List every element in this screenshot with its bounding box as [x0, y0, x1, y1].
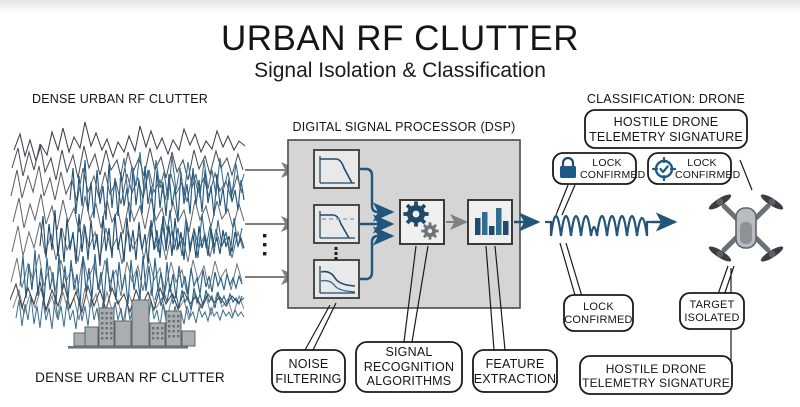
callout-line: RECOGNITION [356, 360, 462, 375]
badge-line: LOCK [580, 158, 634, 170]
callout-text-hostile-drone-bottom: HOSTILE DRONE TELEMETRY SIGNATURE [580, 362, 732, 390]
callout-line: TARGET [680, 299, 744, 312]
label-classification: CLASSIFICATION: DRONE [578, 92, 754, 106]
callout-line: LOCK [564, 301, 633, 314]
city-skyline-icon [68, 300, 195, 349]
badge-line: CONFIRMED [580, 170, 634, 182]
callout-line: HOSTILE DRONE [580, 362, 732, 376]
callout-line: TELEMETRY SIGNATURE [585, 130, 747, 145]
callout-text-target-isolated: TARGET ISOLATED [680, 299, 744, 325]
rf-clutter-traces-icon [10, 122, 245, 329]
callout-line: SIGNAL [356, 345, 462, 360]
callout-line: ALGORITHMS [356, 374, 462, 389]
callout-text-lock-confirmed-bottom: LOCK CONFIRMED [564, 301, 633, 327]
clutter-ellipsis-icon [263, 234, 266, 255]
label-clutter-top: DENSE URBAN RF CLUTTER [10, 92, 230, 106]
badge-line: LOCK [675, 158, 729, 170]
callout-line: NOISE [272, 357, 345, 372]
label-dsp-title: DIGITAL SIGNAL PROCESSOR (DSP) [283, 120, 525, 134]
quadcopter-drone-icon [707, 192, 785, 264]
filter-3-block[interactable] [314, 260, 359, 298]
callout-line: TELEMETRY SIGNATURE [580, 376, 732, 390]
dsp-filter-blocks [314, 150, 359, 298]
filter-1-block[interactable] [314, 150, 359, 188]
callout-text-signal-recognition: SIGNAL RECOGNITION ALGORITHMS [356, 345, 462, 389]
badge-line: CONFIRMED [675, 170, 729, 182]
clean-sine-wave-icon [545, 216, 675, 236]
callout-line: ISOLATED [680, 312, 744, 325]
badge-text-lock: LOCK CONFIRMED [580, 158, 634, 181]
label-clutter-bottom: DENSE URBAN RF CLUTTER [10, 370, 250, 385]
callout-line: EXTRACTION [473, 372, 557, 387]
callout-line: FEATURE [473, 357, 557, 372]
filter-ellipsis-icon [335, 247, 338, 260]
callout-text-hostile-drone-top: HOSTILE DRONE TELEMETRY SIGNATURE [585, 115, 747, 145]
features-block[interactable] [468, 200, 512, 244]
callout-text-noise-filtering: NOISE FILTERING [272, 357, 345, 386]
filter-2-block[interactable] [314, 205, 359, 243]
badge-text-target: LOCK CONFIRMED [675, 158, 729, 181]
gears-block[interactable] [400, 200, 444, 244]
callout-line: FILTERING [272, 372, 345, 387]
callout-text-feature-extraction: FEATURE EXTRACTION [473, 357, 557, 386]
callout-line: HOSTILE DRONE [585, 115, 747, 130]
callout-line: CONFIRMED [564, 314, 633, 327]
diagram-canvas: URBAN RF CLUTTER Signal Isolation & Clas… [0, 0, 800, 407]
